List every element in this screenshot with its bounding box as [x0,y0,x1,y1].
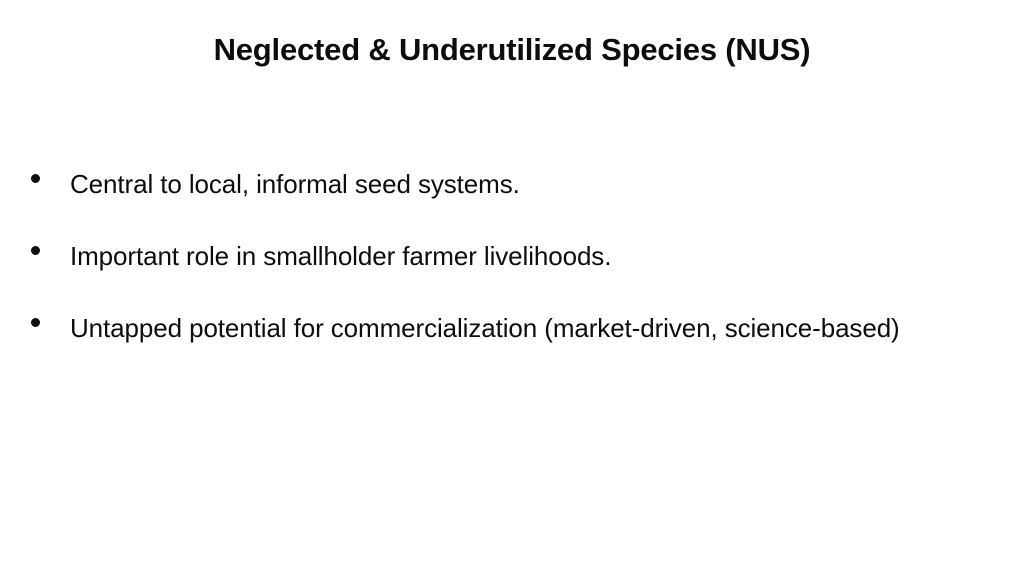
bullet-dot-icon [31,174,40,183]
list-item-label: Important role in smallholder farmer liv… [70,240,1024,272]
page-title: Neglected & Underutilized Species (NUS) [0,30,1024,70]
presentation-slide: Neglected & Underutilized Species (NUS) … [0,0,1024,576]
bullet-list: Central to local, informal seed systems.… [0,168,1024,384]
list-item-label: Central to local, informal seed systems. [70,168,1024,200]
bullet-dot-icon [31,318,40,327]
list-item: Untapped potential for commercialization… [0,312,1024,384]
bullet-dot-icon [31,246,40,255]
list-item: Important role in smallholder farmer liv… [0,240,1024,312]
list-item-label: Untapped potential for commercialization… [70,312,1024,344]
list-item: Central to local, informal seed systems. [0,168,1024,240]
